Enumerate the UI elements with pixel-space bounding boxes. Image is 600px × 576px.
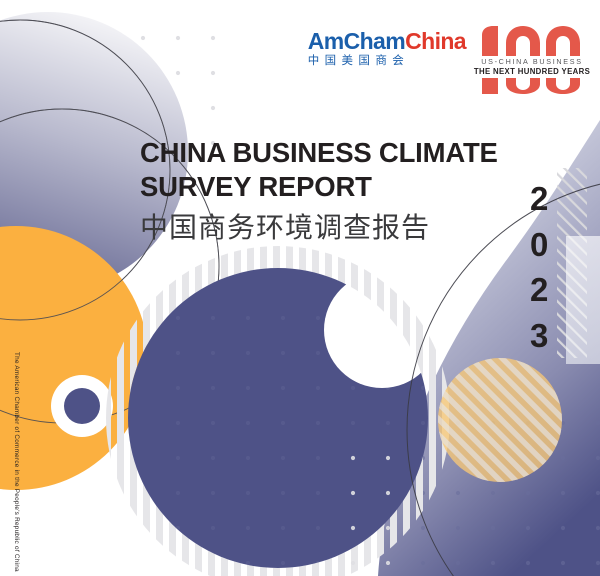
amcham-word-blue: AmCham: [308, 28, 405, 54]
amcham-wordmark: AmChamChina: [308, 30, 466, 53]
centennial-tagline-2: THE NEXT HUNDRED YEARS: [474, 68, 590, 76]
centennial-tagline-1: US-CHINA BUSINESS: [481, 58, 583, 65]
logo-block: AmChamChina 中国美国商会 US-CHINA BUSINESS THE…: [308, 26, 584, 94]
orange-circle-left: [0, 226, 148, 490]
year-digit: 2: [530, 273, 548, 306]
centennial-numeral-top-icon: [480, 26, 584, 56]
centennial-logo: US-CHINA BUSINESS THE NEXT HUNDRED YEARS: [480, 26, 584, 94]
big-purple-circle: [100, 240, 480, 576]
year-digit: 0: [530, 228, 548, 261]
title-block: CHINA BUSINESS CLIMATE SURVEY REPORT 中国商…: [140, 136, 520, 244]
centennial-numeral-bottom-icon: [480, 78, 584, 94]
spine-organization-name: The American Chamber of Commerce in the …: [13, 352, 20, 552]
year-block: 2 0 2 3: [530, 182, 548, 352]
amcham-china-logo: AmChamChina 中国美国商会: [308, 26, 466, 68]
amcham-word-red: China: [405, 28, 466, 54]
page-title-english: CHINA BUSINESS CLIMATE SURVEY REPORT: [140, 136, 520, 204]
year-digit: 2: [530, 182, 548, 215]
amcham-chinese-name: 中国美国商会: [308, 56, 409, 68]
report-cover: AmChamChina 中国美国商会 US-CHINA BUSINESS THE…: [0, 0, 600, 576]
purple-dot-accent: [64, 388, 100, 424]
year-hatch-band: [557, 168, 587, 358]
orange-striped-circle: [436, 356, 564, 484]
vertical-stripe-ring: [100, 240, 460, 576]
page-title-chinese: 中国商务环境调查报告: [140, 211, 520, 245]
white-ring-accent: [51, 375, 113, 437]
year-digit: 3: [530, 319, 548, 352]
